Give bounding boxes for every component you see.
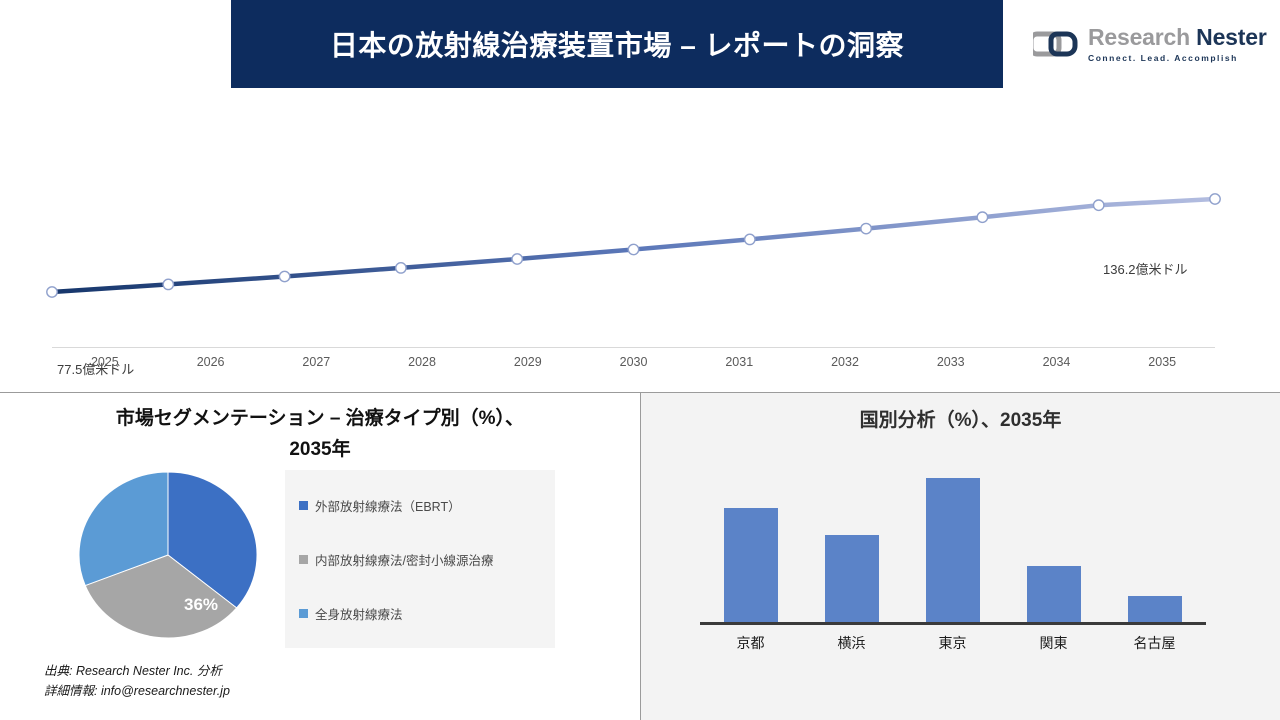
legend-swatch-icon	[299, 501, 308, 510]
line-data-point	[396, 263, 406, 273]
line-chart-x-tick: 2032	[792, 355, 898, 379]
line-chart-x-tick: 2026	[158, 355, 264, 379]
page-title: 日本の放射線治療装置市場 – レポートの洞察	[330, 24, 904, 64]
country-bar-chart	[700, 457, 1205, 622]
bar-chart-x-tick: 京都	[700, 633, 801, 653]
pie-legend-label: 内部放射線療法/密封小線源治療	[315, 550, 493, 569]
line-chart-x-axis	[52, 347, 1215, 348]
line-data-point	[1210, 194, 1220, 204]
line-end-value-label: 136.2億米ドル	[1103, 259, 1188, 278]
line-data-point	[512, 254, 522, 264]
bar-column	[700, 457, 801, 622]
line-chart-x-tick: 2035	[1109, 355, 1215, 379]
logo-word-research: Research	[1088, 24, 1190, 50]
bar-chart-x-tick-labels: 京都横浜東京関東名古屋	[700, 633, 1205, 653]
line-data-point	[628, 244, 638, 254]
country-analysis-title: 国別分析（%）、2035年	[641, 405, 1280, 432]
line-chart-x-tick: 2033	[898, 355, 1004, 379]
line-data-point	[163, 279, 173, 289]
bar-chart-x-tick: 名古屋	[1104, 633, 1205, 653]
line-chart-x-tick: 2028	[369, 355, 475, 379]
bar-chart-baseline	[700, 622, 1206, 625]
company-logo: Research Nester Connect. Lead. Accomplis…	[1033, 20, 1263, 68]
pie-legend-label: 外部放射線療法（EBRT）	[315, 496, 461, 515]
line-chart-x-tick: 2025	[52, 355, 158, 379]
source-line-1: 出典: Research Nester Inc. 分析	[44, 661, 230, 681]
bar-chart-x-tick: 東京	[902, 633, 1003, 653]
legend-swatch-icon	[299, 555, 308, 564]
line-chart-x-tick: 2027	[263, 355, 369, 379]
segmentation-panel: 市場セグメンテーション – 治療タイプ別（%）、 2035年 36% 外部放射線…	[0, 393, 640, 720]
pie-slice-label: 36%	[184, 595, 218, 615]
line-data-point	[1094, 200, 1104, 210]
logo-word-nester: Nester	[1196, 24, 1266, 50]
pie-legend-item[interactable]: 内部放射線療法/密封小線源治療	[299, 550, 555, 569]
line-chart-x-tick: 2031	[686, 355, 792, 379]
legend-swatch-icon	[299, 609, 308, 618]
source-note: 出典: Research Nester Inc. 分析 詳細情報: info@r…	[44, 661, 230, 701]
line-data-point	[861, 223, 871, 233]
bar[interactable]	[724, 508, 778, 622]
bar[interactable]	[926, 478, 980, 622]
line-data-point	[279, 271, 289, 281]
country-analysis-panel: 国別分析（%）、2035年 京都横浜東京関東名古屋	[641, 393, 1280, 720]
line-data-point	[47, 287, 57, 297]
logo-wordmark: Research Nester	[1088, 26, 1267, 49]
bar[interactable]	[1027, 566, 1081, 622]
pie-legend-label: 全身放射線療法	[315, 604, 403, 623]
pie-legend-item[interactable]: 全身放射線療法	[299, 604, 555, 623]
line-chart-x-tick: 2029	[475, 355, 581, 379]
pie-legend: 外部放射線療法（EBRT）内部放射線療法/密封小線源治療全身放射線療法	[285, 470, 555, 648]
bar-column	[801, 457, 902, 622]
bar[interactable]	[825, 535, 879, 622]
pie-chart-svg	[72, 470, 264, 640]
bar[interactable]	[1128, 596, 1182, 622]
line-chart-x-tick-labels: 2025202620272028202920302031203220332034…	[52, 355, 1215, 379]
logo-tagline: Connect. Lead. Accomplish	[1088, 54, 1267, 63]
bar-chart-x-tick: 横浜	[801, 633, 902, 653]
treatment-type-pie-chart: 36%	[72, 470, 264, 640]
line-chart-x-tick: 2030	[581, 355, 687, 379]
segmentation-title: 市場セグメンテーション – 治療タイプ別（%）、 2035年	[40, 403, 600, 465]
header-bar: 日本の放射線治療装置市場 – レポートの洞察	[231, 0, 1003, 88]
logo-text: Research Nester Connect. Lead. Accomplis…	[1088, 26, 1267, 63]
chain-link-logo-icon	[1033, 28, 1079, 60]
line-data-point	[977, 212, 987, 222]
bar-column	[902, 457, 1003, 622]
line-chart-x-tick: 2034	[1004, 355, 1110, 379]
bar-chart-x-tick: 関東	[1003, 633, 1104, 653]
segmentation-title-line2: 2035年	[289, 439, 350, 460]
segmentation-title-line1: 市場セグメンテーション – 治療タイプ別（%）、	[116, 408, 524, 429]
line-data-point	[745, 234, 755, 244]
bar-column	[1003, 457, 1104, 622]
pie-legend-item[interactable]: 外部放射線療法（EBRT）	[299, 496, 555, 515]
bar-column	[1104, 457, 1205, 622]
source-line-2: 詳細情報: info@researchnester.jp	[44, 681, 230, 701]
